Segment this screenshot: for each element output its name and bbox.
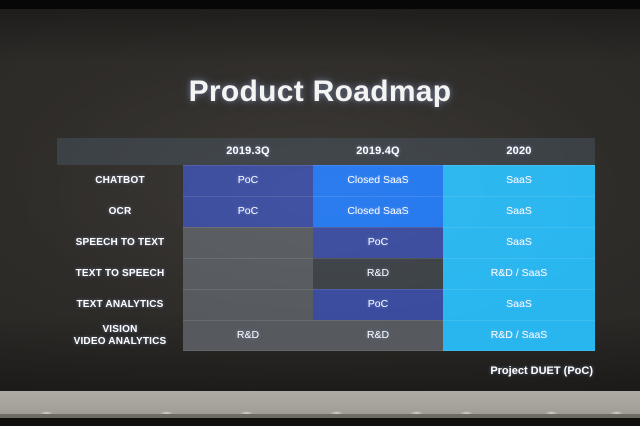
row-label-line2: VIDEO ANALYTICS [74,336,167,347]
cell-2019-3q [183,289,313,320]
cell-2019-3q: R&D [183,320,313,351]
cell-2019-4q: Closed SaaS [313,165,443,196]
table-row: TEXT TO SPEECH R&D R&D / SaaS [57,258,595,289]
cell-2019-4q: PoC [313,227,443,258]
row-label: VISION VIDEO ANALYTICS [57,320,183,351]
cell-2020: SaaS [443,165,595,196]
cell-2020: SaaS [443,196,595,227]
row-label: OCR [57,196,183,227]
table-row: VISION VIDEO ANALYTICS R&D R&D R&D / Saa… [57,320,595,351]
cell-2020: SaaS [443,289,595,320]
header-corner-cell [57,138,183,165]
cell-2020: SaaS [443,227,595,258]
slide-content: Product Roadmap 2019.3Q 2019.4Q 2020 CHA… [0,9,640,391]
row-label: CHATBOT [57,165,183,196]
cell-2019-4q: R&D [313,320,443,351]
footnote: Project DUET (PoC) [57,365,595,377]
photo-of-projected-slide: Product Roadmap 2019.3Q 2019.4Q 2020 CHA… [0,0,640,426]
row-label: TEXT TO SPEECH [57,258,183,289]
row-label: TEXT ANALYTICS [57,289,183,320]
header-cell-2019-4q: 2019.4Q [313,138,443,165]
table-row: SPEECH TO TEXT PoC SaaS [57,227,595,258]
roadmap-table: 2019.3Q 2019.4Q 2020 CHATBOT PoC Closed … [57,138,595,351]
table-row: TEXT ANALYTICS PoC SaaS [57,289,595,320]
cell-2019-4q: R&D [313,258,443,289]
table-row: OCR PoC Closed SaaS SaaS [57,196,595,227]
cell-2019-3q [183,258,313,289]
page-title: Product Roadmap [0,75,640,109]
row-label: SPEECH TO TEXT [57,227,183,258]
header-cell-2020: 2020 [443,138,595,165]
table-row: CHATBOT PoC Closed SaaS SaaS [57,165,595,196]
table-header-row: 2019.3Q 2019.4Q 2020 [57,138,595,165]
cell-2019-4q: Closed SaaS [313,196,443,227]
cell-2019-3q: PoC [183,196,313,227]
cell-2019-3q [183,227,313,258]
cell-2019-3q: PoC [183,165,313,196]
ceiling-band [0,0,640,9]
row-label-line1: VISION [102,324,137,335]
cell-2020: R&D / SaaS [443,258,595,289]
header-cell-2019-3q: 2019.3Q [183,138,313,165]
cell-2020: R&D / SaaS [443,320,595,351]
floor-band [0,418,640,426]
cell-2019-4q: PoC [313,289,443,320]
